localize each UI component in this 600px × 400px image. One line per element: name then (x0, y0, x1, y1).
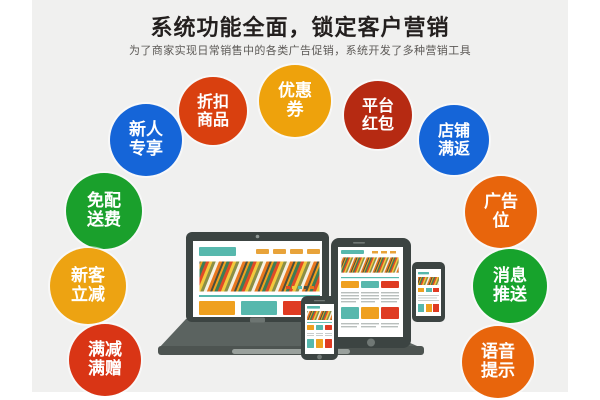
feature-bubble-message-push[interactable]: 消息推送 (473, 249, 547, 323)
bubble-label-line2: 推送 (493, 286, 527, 305)
bubble-label-line2: 满返 (438, 140, 470, 158)
bubble-label-line2: 专享 (129, 140, 163, 159)
bubble-label-line1: 优惠 (278, 82, 312, 101)
page-subtitle: 为了商家实现日常销售中的各类广告促销，系统开发了多种营销工具 (0, 42, 600, 58)
feature-bubble-full-reduction-gift[interactable]: 满减满赠 (69, 324, 141, 396)
feature-bubble-voice-prompt[interactable]: 语音提示 (462, 326, 534, 398)
bubble-label-line1: 满减 (88, 341, 122, 360)
bubble-label-line1: 店铺 (438, 122, 470, 140)
bubble-label-line2: 送费 (87, 211, 121, 230)
feature-bubble-free-shipping[interactable]: 免配送费 (66, 173, 142, 249)
bubble-label-line2: 满赠 (88, 360, 122, 379)
feature-bubble-new-user-exclusive[interactable]: 新人专享 (110, 104, 182, 176)
bubble-label-line1: 语音 (481, 343, 515, 362)
bubble-label-line2: 券 (287, 101, 304, 120)
marketing-banner: 系统功能全面，锁定客户营销 为了商家实现日常销售中的各类广告促销，系统开发了多种… (0, 0, 600, 400)
bubble-label-line2: 立减 (71, 286, 105, 305)
bubble-label-line2: 红包 (362, 115, 394, 133)
feature-bubble-store-full-return[interactable]: 店铺满返 (419, 105, 489, 175)
feature-bubble-platform-red-packet[interactable]: 平台红包 (344, 81, 412, 149)
bubble-label-line1: 免配 (87, 192, 121, 211)
page-title: 系统功能全面，锁定客户营销 (0, 10, 600, 42)
feature-bubble-discount-products[interactable]: 折扣商品 (179, 77, 247, 145)
feature-bubble-coupon[interactable]: 优惠券 (259, 65, 331, 137)
bubble-label-line2: 提示 (481, 362, 515, 381)
bubble-label-line1: 新客 (71, 267, 105, 286)
bubble-label-line1: 折扣 (197, 93, 229, 111)
bubble-label-line1: 平台 (362, 97, 394, 115)
bubble-label-line2: 位 (493, 212, 510, 231)
bubble-label-line1: 消息 (493, 267, 527, 286)
feature-bubble-new-customer-discount[interactable]: 新客立减 (50, 248, 126, 324)
bubble-label-line2: 商品 (197, 111, 229, 129)
feature-bubble-ad-slot[interactable]: 广告位 (465, 176, 537, 248)
bubble-label-line1: 广告 (484, 193, 518, 212)
bubble-label-line1: 新人 (129, 121, 163, 140)
